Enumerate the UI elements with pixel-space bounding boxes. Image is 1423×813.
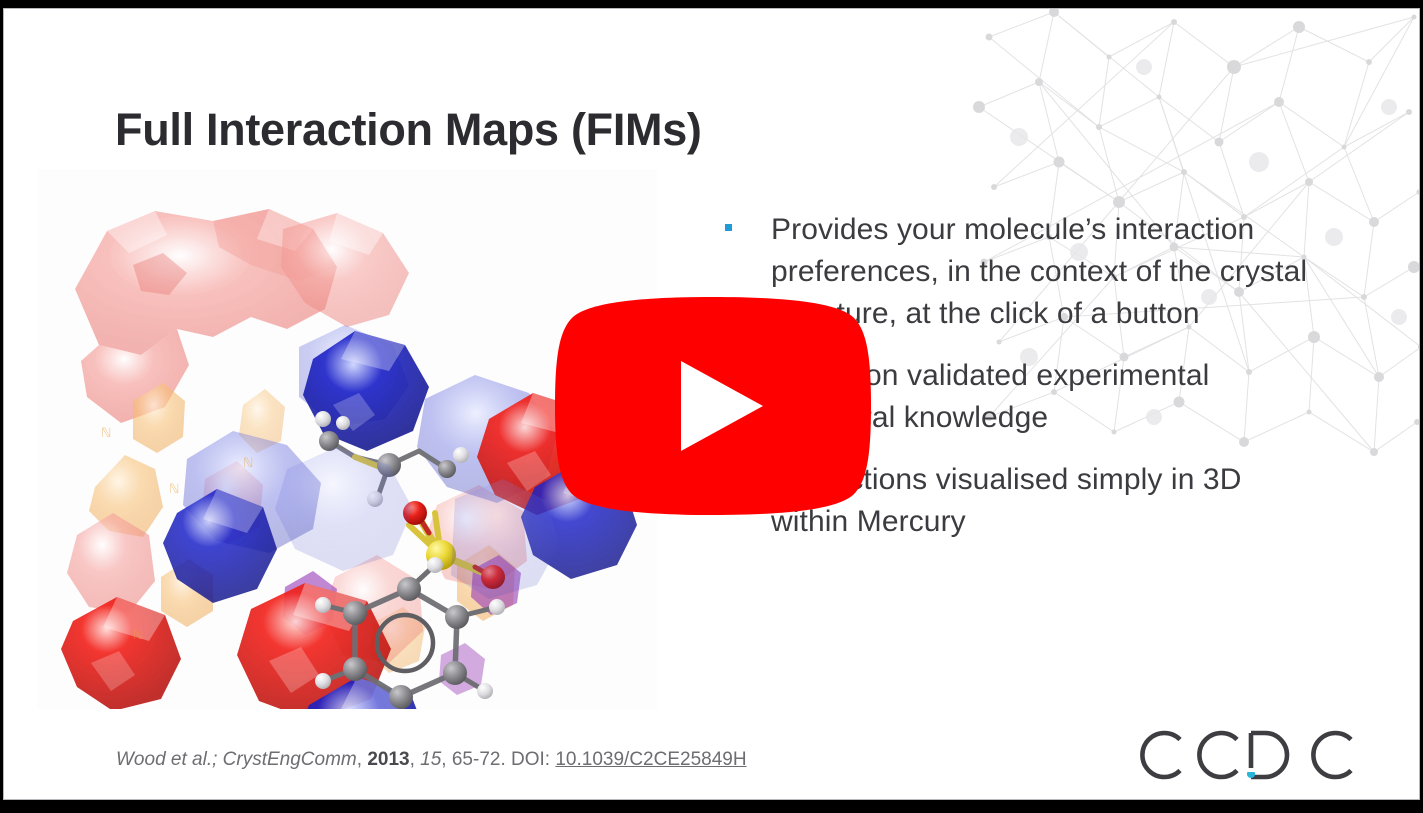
svg-text:ℕ: ℕ <box>133 627 143 642</box>
video-player[interactable]: Full Interaction Maps (FIMs) <box>0 0 1423 813</box>
page-title: Full Interaction Maps (FIMs) <box>115 104 702 156</box>
play-button[interactable] <box>553 295 873 517</box>
bullet-marker-icon <box>725 224 732 231</box>
svg-text:ℕ: ℕ <box>169 481 179 496</box>
ccdc-logo <box>1139 724 1361 786</box>
citation-authors: Wood et al.; <box>116 749 217 770</box>
letterbox-bottom-bar <box>0 800 1423 813</box>
letterbox-top-bar <box>0 0 1423 8</box>
svg-text:ℕ: ℕ <box>101 425 111 440</box>
citation-doi-link[interactable]: 10.1039/C2CE25849H <box>555 749 746 770</box>
svg-text:ℕ: ℕ <box>243 455 253 470</box>
citation-year: 2013 <box>367 749 409 770</box>
citation: Wood et al.; CrystEngComm, 2013, 15, 65-… <box>116 749 747 771</box>
citation-pages: 65-72. <box>452 749 506 770</box>
citation-volume: 15 <box>420 749 441 770</box>
citation-journal: CrystEngComm <box>223 749 357 770</box>
citation-doi-label: DOI: <box>511 749 550 770</box>
